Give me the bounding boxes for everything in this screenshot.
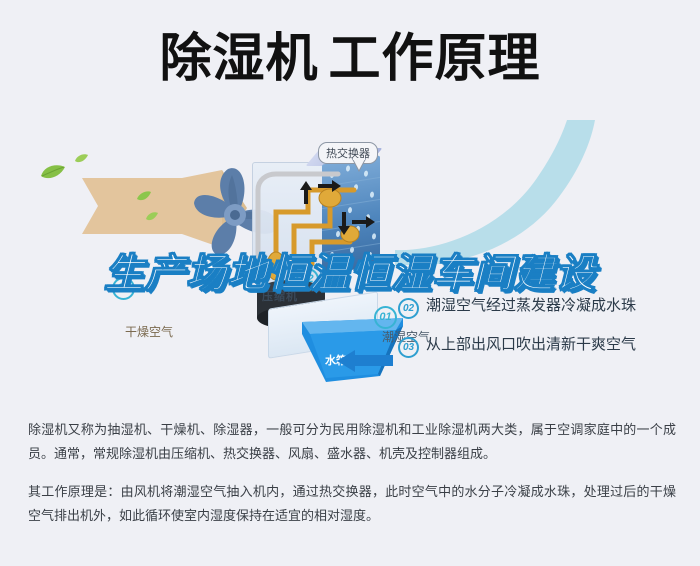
air-inlet-arrow: [335, 350, 393, 372]
leaf-icon: [137, 188, 151, 206]
body-copy: 除湿机又称为抽湿机、干燥机、除湿器，一般可分为民用除湿机和工业除湿机两大类，属于…: [28, 418, 676, 528]
list-item: 03 从上部出风口吹出清新干爽空气: [398, 335, 688, 358]
humid-air-flow-arc: [395, 120, 645, 265]
step-text: 从上部出风口吹出清新干爽空气: [426, 335, 636, 355]
callout-tail-icon: [352, 158, 366, 172]
step-badge: 02: [398, 298, 419, 319]
body-paragraph-2: 其工作原理是：由风机将潮湿空气抽入机内，通过热交换器，此时空气中的水分子冷凝成水…: [28, 480, 676, 528]
diagram-badge-01: 01: [374, 306, 397, 329]
page-title-part2: 工作原理: [329, 30, 541, 88]
body-paragraph-1: 除湿机又称为抽湿机、干燥机、除湿器，一般可分为民用除湿机和工业除湿机两大类，属于…: [28, 418, 676, 466]
heat-exchanger-callout: 热交换器: [318, 142, 378, 164]
leaf-icon: [40, 164, 66, 185]
leaf-icon: [146, 208, 158, 226]
step-text: 潮湿空气经过蒸发器冷凝成水珠: [426, 296, 636, 316]
leaf-icon: [75, 150, 88, 168]
dry-air-label: 干燥空气: [125, 323, 173, 340]
page-title-part1: 除湿机: [159, 30, 318, 88]
list-item: 02 潮湿空气经过蒸发器冷凝成水珠: [398, 296, 688, 319]
step-badge: 03: [398, 337, 419, 358]
page-root: 除湿机工作原理: [0, 0, 700, 566]
watermark-overlay-text: 生产场地恒温恒湿车间建设: [0, 252, 700, 297]
steps-list: 02 潮湿空气经过蒸发器冷凝成水珠 03 从上部出风口吹出清新干爽空气: [398, 296, 688, 374]
page-title: 除湿机工作原理: [0, 28, 700, 90]
